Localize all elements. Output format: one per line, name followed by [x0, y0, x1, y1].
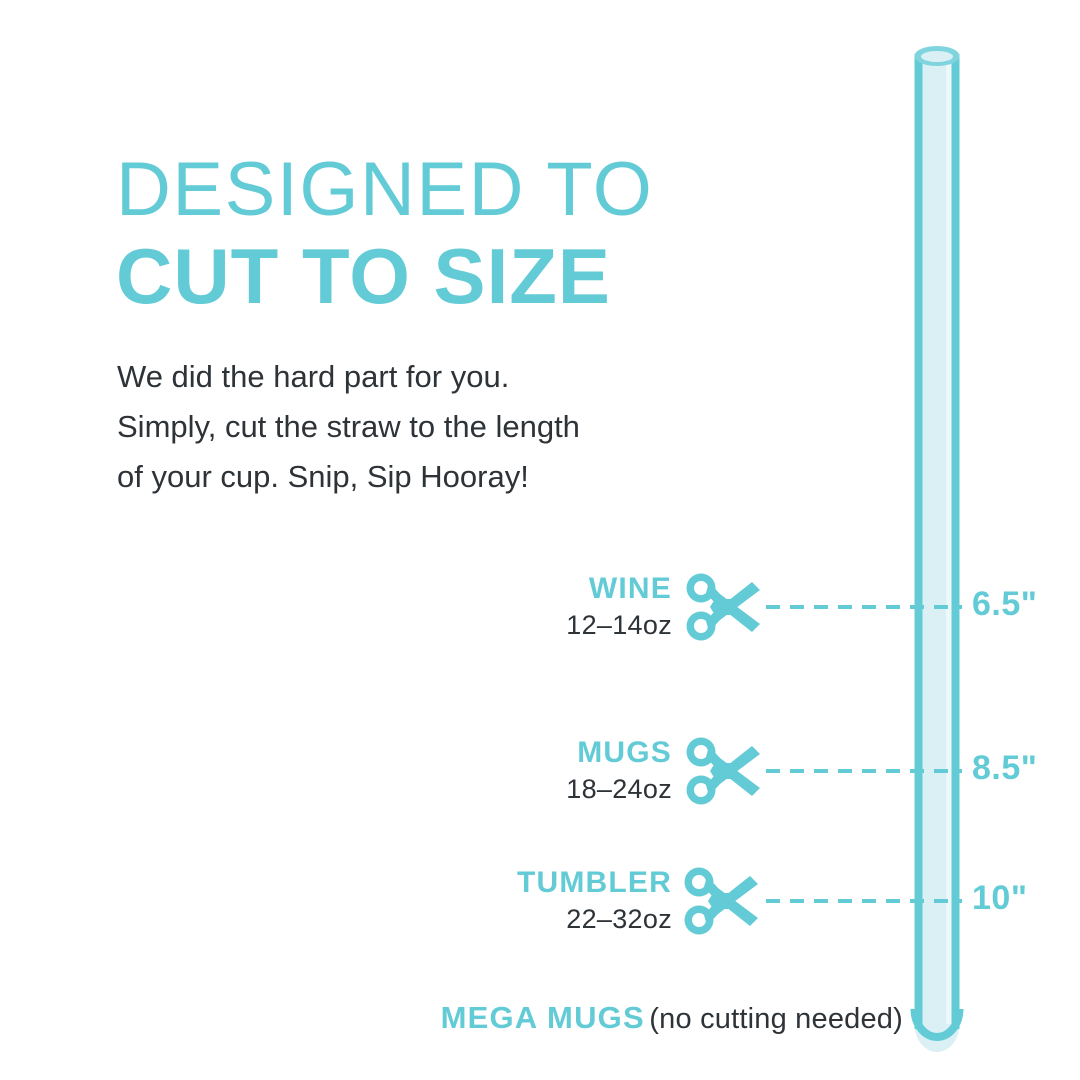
size-labels-mugs: MUGS 18–24oz: [312, 736, 672, 806]
size-capacity-tumbler: 22–32oz: [312, 902, 672, 936]
size-measurement-mugs: 8.5": [972, 748, 1037, 788]
body-line-1: We did the hard part for you.: [117, 352, 737, 402]
size-row-tumbler: TUMBLER 22–32oz 10": [0, 866, 1080, 956]
body-line-2: Simply, cut the straw to the length: [117, 402, 737, 452]
measure-dashline-tumbler: [766, 899, 962, 903]
size-name-tumbler: TUMBLER: [312, 866, 672, 900]
size-labels-tumbler: TUMBLER 22–32oz: [312, 866, 672, 936]
scissors-icon: [684, 572, 772, 642]
scissors-icon: [682, 866, 770, 936]
size-capacity-wine: 12–14oz: [312, 608, 672, 642]
cut-to-size-infographic: DESIGNED TO CUT TO SIZE We did the hard …: [0, 0, 1080, 1080]
size-capacity-mugs: 18–24oz: [312, 772, 672, 806]
headline-line-1: DESIGNED TO: [116, 148, 816, 232]
size-row-mugs: MUGS 18–24oz 8.5": [0, 736, 1080, 826]
size-labels-wine: WINE 12–14oz: [312, 572, 672, 642]
mega-mugs-note: MEGA MUGS (no cutting needed): [0, 1000, 908, 1036]
size-measurement-tumbler: 10": [972, 878, 1027, 918]
size-measurement-wine: 6.5": [972, 584, 1037, 624]
measure-dashline-mugs: [766, 769, 962, 773]
scissors-icon: [684, 736, 772, 806]
size-name-mugs: MUGS: [312, 736, 672, 770]
size-name-wine: WINE: [312, 572, 672, 606]
size-row-wine: WINE 12–14oz: [0, 572, 1080, 662]
page-title: DESIGNED TO CUT TO SIZE: [116, 148, 816, 320]
body-copy: We did the hard part for you. Simply, cu…: [117, 352, 737, 502]
mega-mugs-label: MEGA MUGS: [441, 1000, 645, 1035]
headline-line-2: CUT TO SIZE: [116, 232, 816, 320]
measure-dashline-wine: [766, 605, 962, 609]
body-line-3: of your cup. Snip, Sip Hooray!: [117, 452, 737, 502]
mega-mugs-sublabel: (no cutting needed): [649, 1003, 903, 1035]
